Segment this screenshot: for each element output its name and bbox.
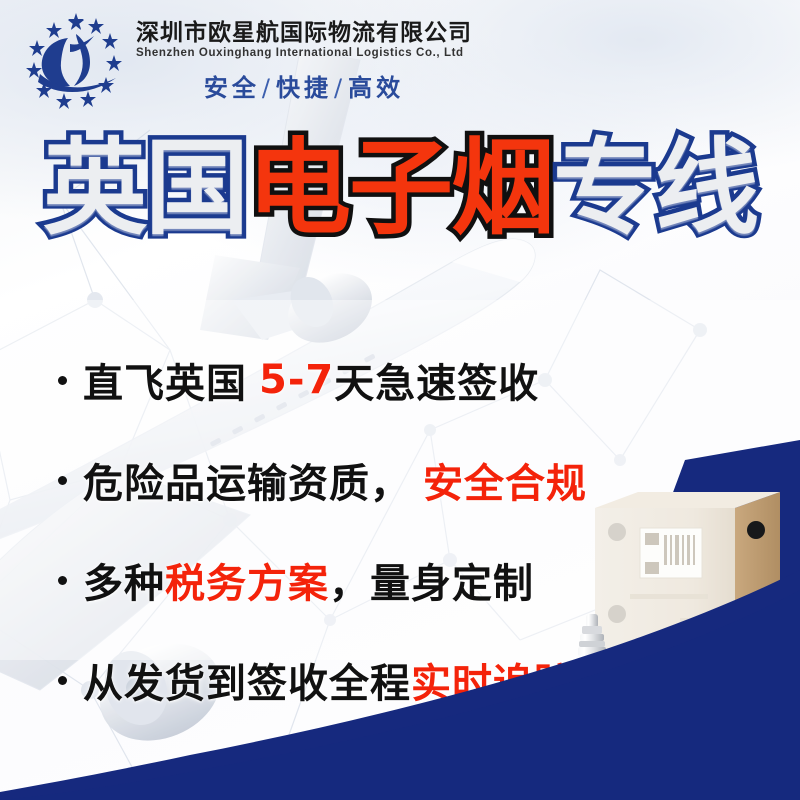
poster-canvas: 深圳市欧星航国际物流有限公司 Shenzhen Ouxinghang Inter… [0, 0, 800, 800]
bullet-1-pre: 直飞英国 [83, 351, 247, 409]
brand-text-block: 深圳市欧星航国际物流有限公司 Shenzhen Ouxinghang Inter… [136, 17, 472, 103]
title-part-product: 电子烟 [247, 136, 553, 240]
company-tagline: 安全/快捷/高效 [136, 68, 472, 103]
brand-header: 深圳市欧星航国际物流有限公司 Shenzhen Ouxinghang Inter… [0, 0, 800, 120]
company-name-en: Shenzhen Ouxinghang International Logist… [136, 47, 472, 59]
company-name-cn: 深圳市欧星航国际物流有限公司 [136, 21, 472, 45]
title-part-country: 英国 [43, 136, 247, 240]
tagline-part-1: 安全 [204, 74, 260, 102]
tagline-separator-2: / [332, 74, 348, 102]
bullet-1-post: 天急速签收 [334, 351, 539, 409]
bullet-dot-icon [58, 376, 67, 385]
tagline-part-3: 高效 [348, 74, 404, 102]
bullet-item-delivery-speed: 直飞英国5-7天急速签收 [58, 330, 758, 430]
bullet-2-highlight: 安全合规 [423, 451, 587, 509]
company-logo-icon [24, 10, 128, 110]
main-title: 英国电子烟专线 [0, 128, 800, 248]
tagline-separator-1: / [260, 74, 276, 102]
navy-wave-footer [0, 530, 800, 800]
bullet-1-highlight: 5-7 [259, 357, 334, 403]
bullet-dot-icon [58, 476, 67, 485]
tagline-part-2: 快捷 [276, 74, 332, 102]
bullet-2-pre: 危险品运输资质， [83, 451, 411, 509]
title-part-route: 专线 [553, 136, 757, 240]
